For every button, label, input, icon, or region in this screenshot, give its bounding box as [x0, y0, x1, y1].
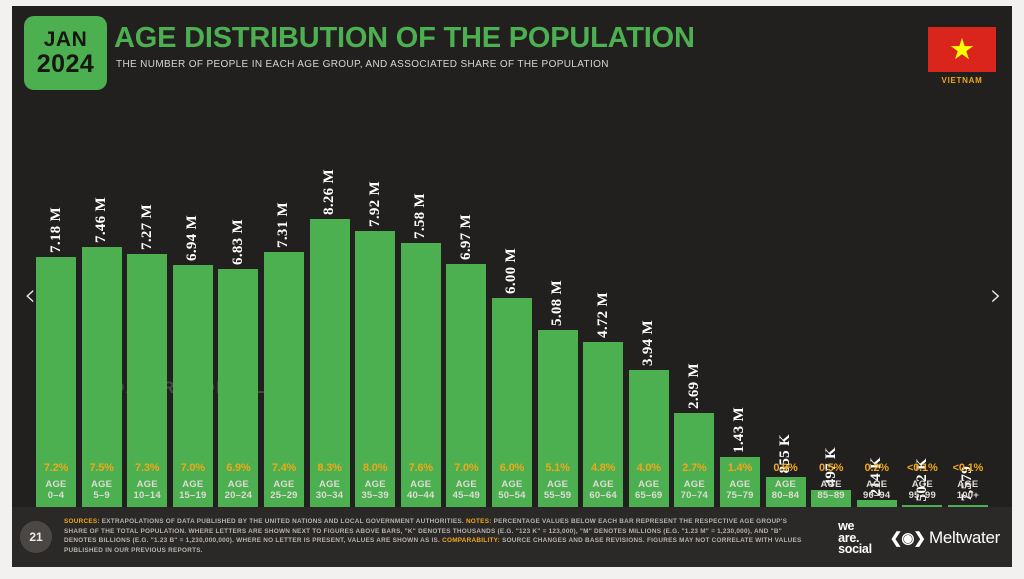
- age-group-line: AGE: [34, 479, 78, 490]
- age-group-line: AGE: [809, 479, 853, 490]
- age-group-line: AGE: [718, 479, 762, 490]
- star-icon: ★: [949, 36, 975, 64]
- axis-label-group: 7.6%AGE40–44: [399, 462, 443, 501]
- age-group-label: AGE40–44: [399, 479, 443, 501]
- age-group-line: AGE: [855, 479, 899, 490]
- age-group-line: 10–14: [125, 490, 169, 501]
- share-percent-label: 4.8%: [581, 462, 625, 474]
- bar-column[interactable]: 855 K: [764, 137, 808, 507]
- age-group-label: AGE75–79: [718, 479, 762, 501]
- axis-label-group: 7.2%AGE0–4: [34, 462, 78, 501]
- age-group-line: 65–69: [627, 490, 671, 501]
- axis-label-group: 1.4%AGE75–79: [718, 462, 762, 501]
- share-percent-label: 6.9%: [216, 462, 260, 474]
- sources-notes-text: SOURCES: EXTRAPOLATIONS OF DATA PUBLISHE…: [64, 517, 804, 555]
- share-percent-label: 5.1%: [536, 462, 580, 474]
- age-group-label: AGE80–84: [764, 479, 808, 501]
- meltwater-logo: ❮◉❯ Meltwater: [890, 528, 1000, 548]
- share-percent-label: 4.0%: [627, 462, 671, 474]
- page-title: AGE DISTRIBUTION OF THE POPULATION: [114, 22, 695, 55]
- age-group-line: 95–99: [900, 490, 944, 501]
- slide-header: JAN 2024 AGE DISTRIBUTION OF THE POPULAT…: [12, 6, 1012, 92]
- age-group-label: AGE50–54: [490, 479, 534, 501]
- date-badge-month: JAN: [44, 29, 88, 51]
- age-group-label: AGE30–34: [308, 479, 352, 501]
- bar-column[interactable]: 50.2 K: [900, 137, 944, 507]
- age-group-line: AGE: [262, 479, 306, 490]
- share-percent-label: 6.0%: [490, 462, 534, 474]
- bar-column[interactable]: 214 K: [855, 137, 899, 507]
- axis-label-group: 8.3%AGE30–34: [308, 462, 352, 501]
- age-group-label: AGE5–9: [80, 479, 124, 501]
- share-percent-label: 0.5%: [809, 462, 853, 474]
- share-percent-label: 1.4%: [718, 462, 762, 474]
- age-distribution-chart: DATAREPORTAL 7.18 M7.46 M7.27 M6.94 M6.8…: [12, 92, 1012, 507]
- bar-value-label: 4.72 M: [595, 292, 612, 338]
- bar-column[interactable]: 5.08 M: [536, 137, 580, 507]
- age-group-label: AGE90–94: [855, 479, 899, 501]
- age-group-line: 40–44: [399, 490, 443, 501]
- bars-container: 7.18 M7.46 M7.27 M6.94 M6.83 M7.31 M8.26…: [34, 92, 990, 507]
- bar-value-label: 7.27 M: [139, 204, 156, 250]
- bar-value-label: 8.26 M: [321, 169, 338, 215]
- bar-column[interactable]: 6.97 M: [444, 137, 488, 507]
- bar-column[interactable]: 7.31 M: [262, 137, 306, 507]
- age-group-line: AGE: [353, 479, 397, 490]
- share-percent-label: 2.7%: [672, 462, 716, 474]
- age-group-line: 5–9: [80, 490, 124, 501]
- meltwater-wordmark: Meltwater: [929, 528, 1000, 548]
- bar-column[interactable]: 7,579: [946, 137, 990, 507]
- bar-value-label: 1.43 M: [731, 407, 748, 453]
- age-group-line: AGE: [171, 479, 215, 490]
- age-group-line: AGE: [125, 479, 169, 490]
- bar-column[interactable]: 7.27 M: [125, 137, 169, 507]
- slide-canvas: JAN 2024 AGE DISTRIBUTION OF THE POPULAT…: [12, 6, 1012, 567]
- age-group-line: 80–84: [764, 490, 808, 501]
- vietnam-flag-icon: ★: [928, 27, 996, 72]
- slide-footer: 21 SOURCES: EXTRAPOLATIONS OF DATA PUBLI…: [12, 507, 1012, 567]
- share-percent-label: 0.2%: [855, 462, 899, 474]
- bar-value-label: 6.00 M: [503, 248, 520, 294]
- age-group-label: AGE85–89: [809, 479, 853, 501]
- age-group-label: AGE20–24: [216, 479, 260, 501]
- age-group-line: AGE: [308, 479, 352, 490]
- age-group-label: AGE45–49: [444, 479, 488, 501]
- share-percent-label: 7.6%: [399, 462, 443, 474]
- share-percent-label: 8.0%: [353, 462, 397, 474]
- axis-label-group: 0.5%AGE85–89: [809, 462, 853, 501]
- bar-column[interactable]: 4.72 M: [581, 137, 625, 507]
- we-are-social-logo: we are. social: [838, 521, 872, 556]
- axis-label-group: <0.1%AGE95–99: [900, 462, 944, 501]
- axis-label-group: 6.9%AGE20–24: [216, 462, 260, 501]
- age-group-line: 90–94: [855, 490, 899, 501]
- age-group-line: AGE: [900, 479, 944, 490]
- age-group-label: AGE25–29: [262, 479, 306, 501]
- bar-value-label: 2.69 M: [686, 363, 703, 409]
- age-group-line: 30–34: [308, 490, 352, 501]
- date-badge-year: 2024: [37, 51, 95, 77]
- bar-column[interactable]: 8.26 M: [308, 137, 352, 507]
- axis-label-group: 7.5%AGE5–9: [80, 462, 124, 501]
- age-group-line: AGE: [536, 479, 580, 490]
- bar-value-label: 5.08 M: [549, 280, 566, 326]
- bar-column[interactable]: 6.94 M: [171, 137, 215, 507]
- age-group-line: 45–49: [444, 490, 488, 501]
- page-subtitle: THE NUMBER OF PEOPLE IN EACH AGE GROUP, …: [116, 59, 609, 70]
- bar-value-label: 7.46 M: [93, 197, 110, 243]
- bar-column[interactable]: 2.69 M: [672, 137, 716, 507]
- bar-value-label: 7.18 M: [48, 207, 65, 253]
- age-group-label: AGE55–59: [536, 479, 580, 501]
- bar-column[interactable]: 3.94 M: [627, 137, 671, 507]
- share-percent-label: <0.1%: [946, 462, 990, 474]
- axis-labels-container: 7.2%AGE0–47.5%AGE5–97.3%AGE10–147.0%AGE1…: [34, 462, 990, 501]
- comparability-label: COMPARABILITY:: [442, 537, 500, 544]
- age-group-label: AGE0–4: [34, 479, 78, 501]
- share-percent-label: 7.2%: [34, 462, 78, 474]
- age-group-line: 85–89: [809, 490, 853, 501]
- bar-value-label: 6.97 M: [458, 214, 475, 260]
- prev-slide-arrow-icon[interactable]: ‹: [24, 278, 36, 313]
- age-group-line: 70–74: [672, 490, 716, 501]
- age-group-line: 55–59: [536, 490, 580, 501]
- share-percent-label: 0.9%: [764, 462, 808, 474]
- age-group-line: AGE: [672, 479, 716, 490]
- age-group-line: AGE: [444, 479, 488, 490]
- age-group-line: AGE: [216, 479, 260, 490]
- axis-label-group: 7.3%AGE10–14: [125, 462, 169, 501]
- bar-column[interactable]: 497 K: [809, 137, 853, 507]
- sources-text: EXTRAPOLATIONS OF DATA PUBLISHED BY THE …: [102, 518, 464, 525]
- axis-label-group: 7.0%AGE45–49: [444, 462, 488, 501]
- age-group-line: AGE: [764, 479, 808, 490]
- axis-label-group: <0.1%AGE100+: [946, 462, 990, 501]
- axis-label-group: 7.4%AGE25–29: [262, 462, 306, 501]
- age-group-line: 75–79: [718, 490, 762, 501]
- axis-label-group: 0.2%AGE90–94: [855, 462, 899, 501]
- page-number-badge: 21: [20, 521, 52, 553]
- country-label: VIETNAM: [926, 76, 998, 85]
- age-group-line: AGE: [490, 479, 534, 490]
- age-group-line: 15–19: [171, 490, 215, 501]
- date-badge: JAN 2024: [24, 16, 107, 90]
- age-group-line: 100+: [946, 490, 990, 501]
- share-percent-label: 7.3%: [125, 462, 169, 474]
- share-percent-label: 7.5%: [80, 462, 124, 474]
- bar-column[interactable]: 6.00 M: [490, 137, 534, 507]
- footer-logos: we are. social ❮◉❯ Meltwater: [838, 521, 1000, 556]
- bar-column[interactable]: 7.58 M: [399, 137, 443, 507]
- share-percent-label: 7.0%: [444, 462, 488, 474]
- age-group-line: 0–4: [34, 490, 78, 501]
- axis-label-group: 7.0%AGE15–19: [171, 462, 215, 501]
- age-group-line: AGE: [581, 479, 625, 490]
- country-flag-block: ★ VIETNAM: [926, 27, 998, 85]
- bar-value-label: 7.58 M: [412, 193, 429, 239]
- age-group-label: AGE65–69: [627, 479, 671, 501]
- age-group-label: AGE95–99: [900, 479, 944, 501]
- next-slide-arrow-icon[interactable]: ›: [990, 278, 1002, 313]
- bar-column[interactable]: 1.43 M: [718, 137, 762, 507]
- age-group-label: AGE100+: [946, 479, 990, 501]
- share-percent-label: 7.0%: [171, 462, 215, 474]
- age-group-line: 25–29: [262, 490, 306, 501]
- bar-column[interactable]: 7.46 M: [80, 137, 124, 507]
- axis-label-group: 4.0%AGE65–69: [627, 462, 671, 501]
- meltwater-mark-icon: ❮◉❯: [890, 529, 925, 547]
- axis-label-group: 5.1%AGE55–59: [536, 462, 580, 501]
- share-percent-label: 7.4%: [262, 462, 306, 474]
- bar-value-label: 6.83 M: [230, 219, 247, 265]
- share-percent-label: <0.1%: [900, 462, 944, 474]
- age-group-line: AGE: [946, 479, 990, 490]
- bar-column[interactable]: 6.83 M: [216, 137, 260, 507]
- age-group-line: 35–39: [353, 490, 397, 501]
- bar-value-label: 7.92 M: [367, 181, 384, 227]
- age-group-label: AGE35–39: [353, 479, 397, 501]
- axis-label-group: 8.0%AGE35–39: [353, 462, 397, 501]
- notes-label: NOTES:: [466, 518, 492, 525]
- age-group-line: 20–24: [216, 490, 260, 501]
- age-group-line: AGE: [627, 479, 671, 490]
- age-group-label: AGE15–19: [171, 479, 215, 501]
- bar-value-label: 3.94 M: [640, 320, 657, 366]
- age-group-label: AGE60–64: [581, 479, 625, 501]
- bar[interactable]: [857, 500, 897, 507]
- age-group-line: 50–54: [490, 490, 534, 501]
- bar-value-label: 6.94 M: [184, 215, 201, 261]
- axis-label-group: 2.7%AGE70–74: [672, 462, 716, 501]
- axis-label-group: 4.8%AGE60–64: [581, 462, 625, 501]
- age-group-label: AGE70–74: [672, 479, 716, 501]
- age-group-line: AGE: [80, 479, 124, 490]
- age-group-line: AGE: [399, 479, 443, 490]
- axis-label-group: 0.9%AGE80–84: [764, 462, 808, 501]
- sources-label: SOURCES:: [64, 518, 100, 525]
- share-percent-label: 8.3%: [308, 462, 352, 474]
- bar-value-label: 7.31 M: [275, 202, 292, 248]
- age-group-line: 60–64: [581, 490, 625, 501]
- bar-column[interactable]: 7.92 M: [353, 137, 397, 507]
- age-group-label: AGE10–14: [125, 479, 169, 501]
- bar-column[interactable]: 7.18 M: [34, 137, 78, 507]
- axis-label-group: 6.0%AGE50–54: [490, 462, 534, 501]
- we-are-social-line-3: social: [838, 544, 872, 556]
